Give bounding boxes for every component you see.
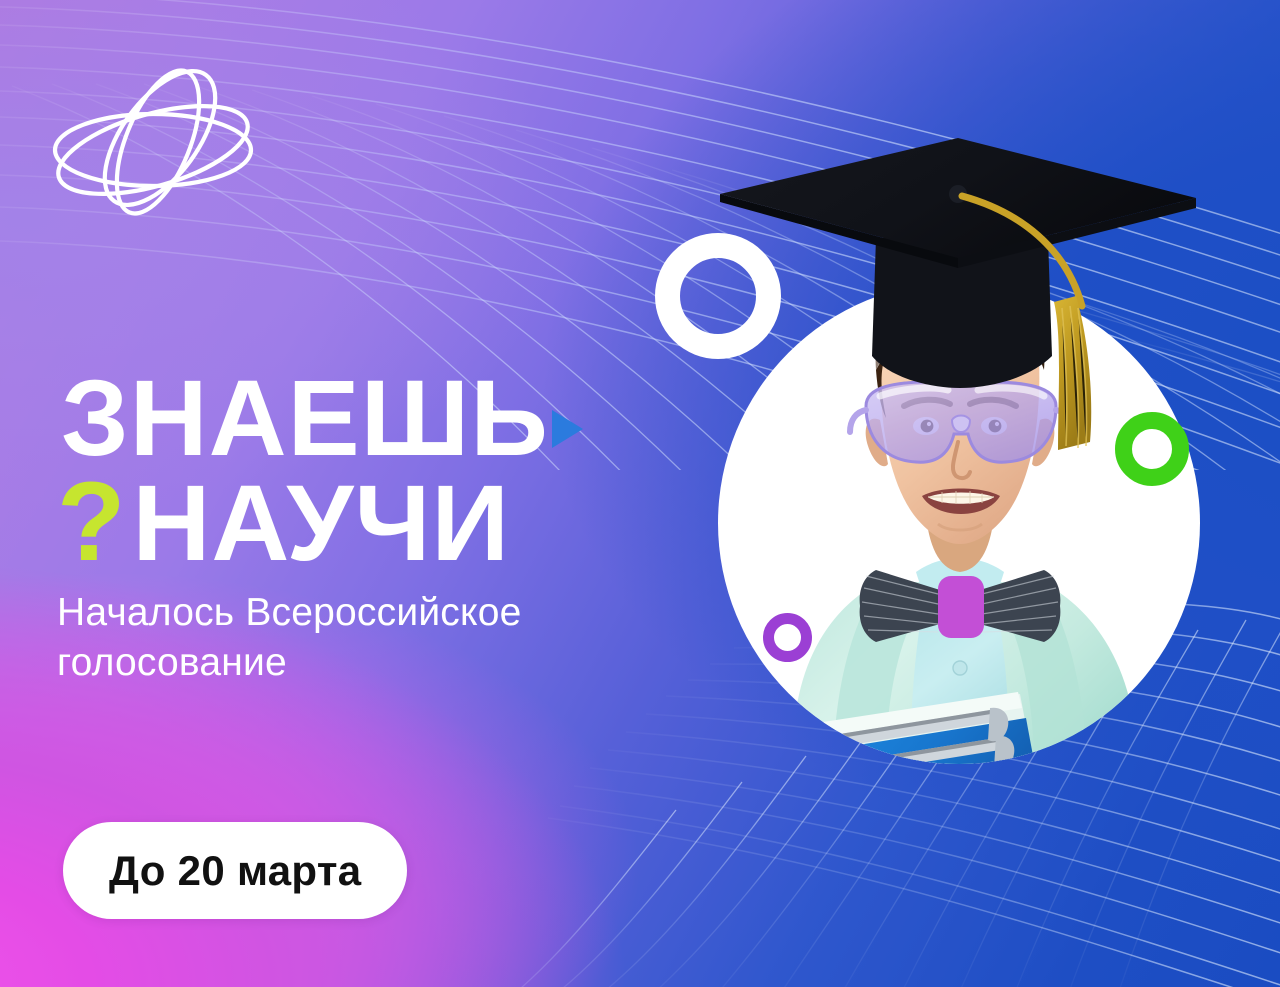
subtitle-text: Началось Всероссийское голосование xyxy=(57,588,657,688)
question-mark-glyph: ? xyxy=(57,470,126,574)
brand-wordmark: ЗНАЕШЬ ? НАУЧИ xyxy=(57,368,677,575)
deadline-date-button[interactable]: До 20 марта xyxy=(63,822,407,919)
purple-ring xyxy=(763,613,812,662)
promo-banner: ЗНАЕШЬ ? НАУЧИ Началось Всероссийское го… xyxy=(0,0,1280,987)
brand-line-nauchi-row: ? НАУЧИ xyxy=(57,470,677,574)
atom-orbital-logo xyxy=(48,58,263,223)
green-ring xyxy=(1115,412,1189,486)
brand-line-nauchi: НАУЧИ xyxy=(132,473,510,573)
brand-line-znaesh: ЗНАЕШЬ xyxy=(57,368,677,468)
play-triangle-icon xyxy=(552,410,583,448)
